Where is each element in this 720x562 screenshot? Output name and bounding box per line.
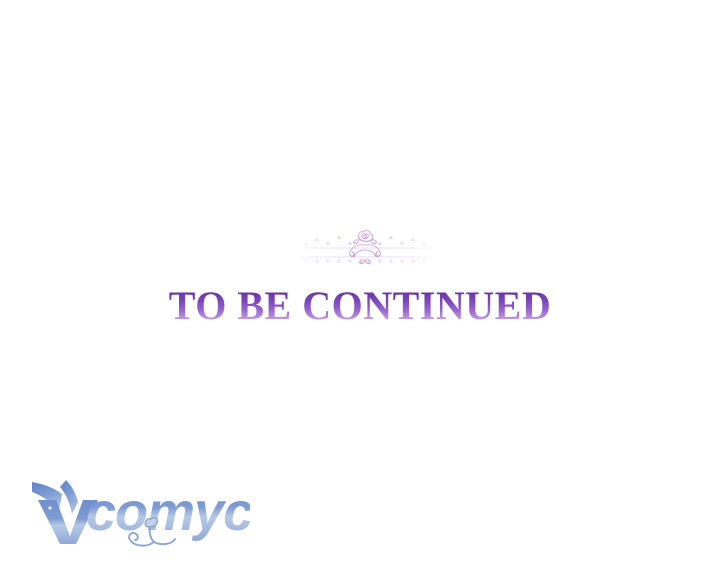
to-be-continued-text: TO BE CONTINUED — [169, 284, 551, 328]
logo-wordmark-text: comycs — [86, 482, 250, 542]
page-canvas: TO BE CONTINUED — [0, 0, 720, 562]
rose-gate-fence-ornament — [297, 228, 433, 288]
to-be-continued-title: TO BE CONTINUED — [0, 284, 720, 328]
vcomycs-logo: comycs — [26, 470, 250, 550]
